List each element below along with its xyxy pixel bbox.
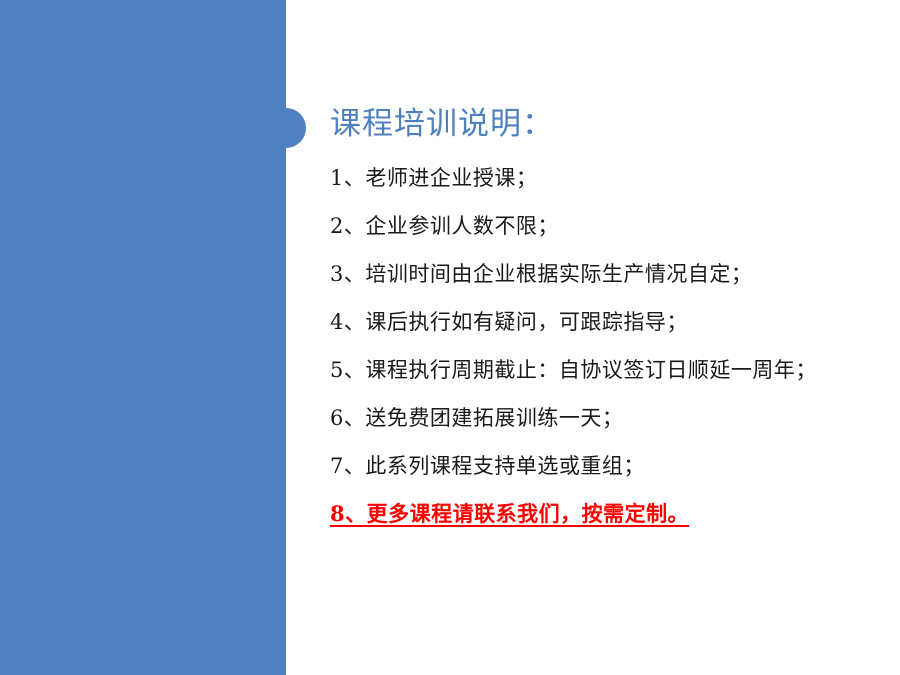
left-blue-sidebar xyxy=(0,0,286,675)
list-item: 5、课程执行周期截止：自协议签订日顺延一周年； xyxy=(330,355,890,403)
list-item: 2、企业参训人数不限； xyxy=(330,211,890,259)
list-item: 1、老师进企业授课； xyxy=(330,163,890,211)
sidebar-semicircle-accent xyxy=(286,108,306,148)
list-item: 7、此系列课程支持单选或重组； xyxy=(330,451,890,499)
list-item: 6、送免费团建拓展训练一天； xyxy=(330,403,890,451)
presentation-slide: 课程培训说明： 1、老师进企业授课； 2、企业参训人数不限； 3、培训时间由企业… xyxy=(0,0,900,675)
bullet-list: 1、老师进企业授课； 2、企业参训人数不限； 3、培训时间由企业根据实际生产情况… xyxy=(330,163,890,547)
slide-content: 课程培训说明： 1、老师进企业授课； 2、企业参训人数不限； 3、培训时间由企业… xyxy=(330,0,890,675)
page-title: 课程培训说明： xyxy=(330,104,554,144)
list-item: 3、培训时间由企业根据实际生产情况自定； xyxy=(330,259,890,307)
list-item-emphasis: 8、更多课程请联系我们，按需定制。 xyxy=(330,499,890,547)
list-item: 4、课后执行如有疑问，可跟踪指导； xyxy=(330,307,890,355)
